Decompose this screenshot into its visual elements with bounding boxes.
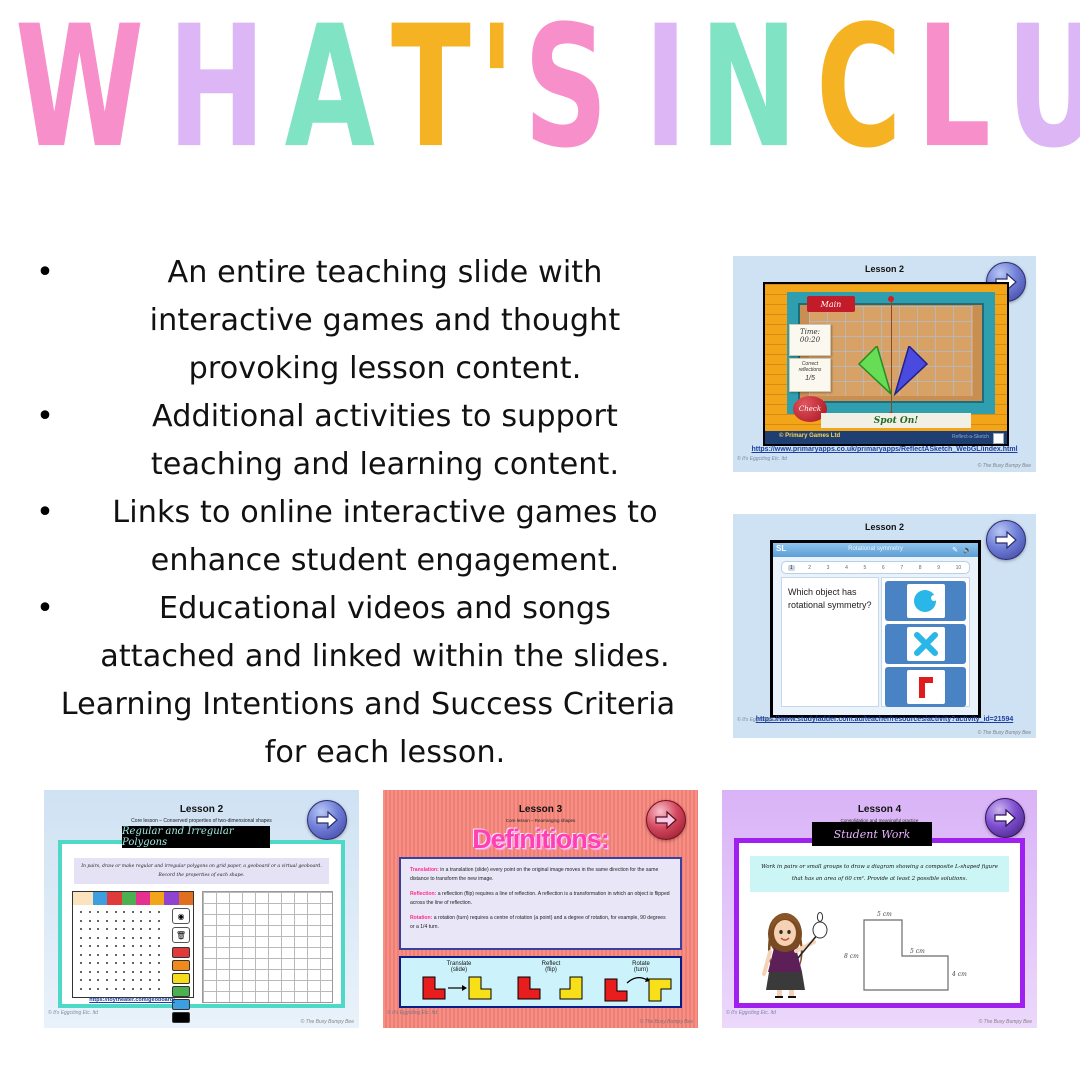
- feature-item: •for each lesson.: [28, 730, 708, 776]
- peg-dot[interactable]: [132, 920, 134, 922]
- title-letter: S: [524, 4, 607, 172]
- question-text: Which object has rotational symmetry?: [782, 578, 878, 620]
- transformation-example: Translate(slide): [419, 961, 499, 1001]
- title-letter: I: [644, 4, 686, 172]
- definition-entry: Rotation: a rotation (turn) requires a c…: [410, 914, 671, 932]
- bullet-dot-icon: •: [28, 346, 62, 392]
- color-swatch-yellow[interactable]: [172, 973, 190, 984]
- peg-dot[interactable]: [123, 954, 125, 956]
- option-flag[interactable]: [885, 667, 966, 707]
- instruction-box: In pairs, draw or make regular and irreg…: [74, 858, 329, 884]
- peg-dot[interactable]: [140, 920, 142, 922]
- peg-dot[interactable]: [149, 928, 151, 930]
- feature-text: interactive games and thought: [65, 298, 705, 343]
- peg-dot[interactable]: [158, 954, 160, 956]
- peg-dot[interactable]: [97, 971, 99, 973]
- peg-dot[interactable]: [106, 920, 108, 922]
- peg-dot[interactable]: [140, 945, 142, 947]
- title-letter: W: [15, 4, 143, 172]
- camera-tool-button[interactable]: ◉: [172, 908, 190, 924]
- peg-dot[interactable]: [158, 928, 160, 930]
- bullet-dot-icon: •: [28, 586, 62, 632]
- title-letter: L: [916, 4, 989, 172]
- peg-dot[interactable]: [115, 911, 117, 913]
- bullet-dot-icon: •: [28, 730, 62, 776]
- instruction-line-2: Record the properties of each shape.: [74, 873, 329, 878]
- peg-dot[interactable]: [149, 979, 151, 981]
- feature-text: enhance student engagement.: [65, 538, 705, 583]
- step-number[interactable]: 3: [825, 565, 832, 571]
- toolbar-btn-1[interactable]: [93, 892, 107, 905]
- thumbnail-reflect-game[interactable]: Lesson 2: [733, 256, 1036, 472]
- peg-dot[interactable]: [115, 954, 117, 956]
- definitions-box: Translation: in a translation (slide) ev…: [399, 857, 682, 950]
- peg-dot[interactable]: [80, 988, 82, 990]
- feature-item: •enhance student engagement.: [28, 538, 708, 584]
- transformation-example: Reflect(flip): [511, 961, 591, 1001]
- peg-dot[interactable]: [140, 988, 142, 990]
- definition-body: a rotation (turn) requires a centre of r…: [410, 915, 666, 930]
- peg-dot[interactable]: [106, 911, 108, 913]
- peg-dot[interactable]: [140, 962, 142, 964]
- title-letter: U: [1007, 4, 1080, 172]
- peg-dot[interactable]: [97, 988, 99, 990]
- definition-entry: Reflection: a reflection (flip) requires…: [410, 890, 671, 908]
- peg-dot[interactable]: [97, 937, 99, 939]
- peg-dot[interactable]: [97, 979, 99, 981]
- peg-dot[interactable]: [158, 962, 160, 964]
- definition-body: in a translation (slide) every point on …: [410, 867, 658, 882]
- title-letter: N: [700, 4, 796, 172]
- features-list: •An entire teaching slide with•interacti…: [28, 250, 708, 778]
- step-number[interactable]: 5: [862, 565, 869, 571]
- peg-dot[interactable]: [106, 945, 108, 947]
- example-figure: [511, 975, 591, 1001]
- peg-dot[interactable]: [123, 920, 125, 922]
- step-number[interactable]: 2: [806, 565, 813, 571]
- credit-left: © It's Eggciting Etc. ltd: [726, 1010, 776, 1016]
- svg-text:8 cm: 8 cm: [844, 953, 859, 960]
- feature-item: •Additional activities to support: [28, 394, 708, 440]
- peg-dot[interactable]: [132, 911, 134, 913]
- toolbar-btn-5[interactable]: [150, 892, 164, 905]
- peg-dot[interactable]: [123, 945, 125, 947]
- peg-dot[interactable]: [97, 920, 99, 922]
- next-arrow-button[interactable]: [986, 520, 1026, 560]
- peg-dot[interactable]: [115, 920, 117, 922]
- feature-text: teaching and learning content.: [65, 442, 705, 487]
- peg-dot[interactable]: [115, 988, 117, 990]
- examples-box: Translate(slide)Reflect(flip)Rotate(turn…: [399, 956, 682, 1008]
- peg-dot[interactable]: [106, 988, 108, 990]
- bullet-dot-icon: •: [28, 250, 62, 296]
- peg-dot[interactable]: [123, 911, 125, 913]
- peg-dot[interactable]: [115, 962, 117, 964]
- peg-dot[interactable]: [115, 971, 117, 973]
- feature-text: Educational videos and songs: [65, 586, 705, 631]
- peg-dot[interactable]: [132, 979, 134, 981]
- volume-icon[interactable]: 🔈: [963, 546, 972, 554]
- example-figure: [419, 975, 499, 1001]
- next-arrow-button[interactable]: [985, 798, 1025, 838]
- peg-dot[interactable]: [80, 945, 82, 947]
- step-number[interactable]: 4: [843, 565, 850, 571]
- peg-dot[interactable]: [123, 979, 125, 981]
- credit-right: © The Busy Bumpy Bee: [301, 1019, 354, 1025]
- peg-dot[interactable]: [158, 945, 160, 947]
- definition-term: Translation:: [410, 867, 440, 873]
- peg-dot[interactable]: [97, 928, 99, 930]
- color-swatch-black[interactable]: [172, 1012, 190, 1023]
- arrow-right-icon: [994, 530, 1018, 550]
- flag-shape-icon: [911, 672, 941, 702]
- feature-item: •attached and linked within the slides.: [28, 634, 708, 680]
- peg-dot[interactable]: [80, 954, 82, 956]
- peg-dot[interactable]: [106, 928, 108, 930]
- feature-text: Learning Intentions and Success Criteria: [31, 682, 704, 727]
- title-letter: ': [479, 4, 513, 172]
- resource-url[interactable]: https://www.primaryapps.co.uk/primaryapp…: [733, 446, 1036, 453]
- peg-dot[interactable]: [158, 979, 160, 981]
- peg-dot[interactable]: [123, 937, 125, 939]
- peg-dot[interactable]: [115, 945, 117, 947]
- transformation-example: Rotate(turn): [601, 961, 681, 1003]
- svg-text:5 cm: 5 cm: [910, 948, 925, 955]
- option-circle[interactable]: [885, 581, 966, 621]
- instruction-line-1: Work in pairs or small groups to draw a …: [750, 856, 1009, 870]
- trash-tool-button[interactable]: 🗑: [172, 927, 190, 943]
- peg-dot[interactable]: [140, 971, 142, 973]
- peg-dot[interactable]: [80, 971, 82, 973]
- fullscreen-icon[interactable]: [993, 433, 1004, 444]
- color-swatch-green[interactable]: [172, 986, 190, 997]
- circle-with-dot-icon: [911, 586, 941, 616]
- peg-dot[interactable]: [132, 954, 134, 956]
- peg-dot[interactable]: [97, 954, 99, 956]
- feature-text: Links to online interactive games to: [65, 490, 705, 535]
- instruction-line-1: In pairs, draw or make regular and irreg…: [74, 864, 329, 869]
- peg-dot[interactable]: [89, 911, 91, 913]
- work-grid: [202, 891, 333, 1003]
- peg-dot[interactable]: [89, 988, 91, 990]
- step-number[interactable]: 8: [917, 565, 924, 571]
- peg-dot[interactable]: [89, 971, 91, 973]
- page-title: WHAT'SINCLUDED: [0, 22, 1080, 172]
- feature-text: attached and linked within the slides.: [65, 634, 705, 679]
- peg-dot[interactable]: [115, 937, 117, 939]
- peg-dot[interactable]: [80, 979, 82, 981]
- svg-text:5 cm: 5 cm: [877, 911, 892, 918]
- peg-dot[interactable]: [97, 962, 99, 964]
- peg-dot[interactable]: [97, 911, 99, 913]
- time-value: 00:20: [790, 336, 830, 344]
- step-number[interactable]: 7: [898, 565, 905, 571]
- peg-dot[interactable]: [132, 937, 134, 939]
- thumbnail-definitions[interactable]: Lesson 3 Core lesson – Rearranging shape…: [383, 790, 698, 1028]
- peg-dot[interactable]: [80, 911, 82, 913]
- peg-dot[interactable]: [123, 988, 125, 990]
- peg-dot[interactable]: [149, 945, 151, 947]
- slide-banner: Student Work: [812, 822, 932, 846]
- credit-right: © The Busy Bumpy Bee: [979, 1019, 1032, 1025]
- step-number[interactable]: 1: [788, 565, 795, 571]
- feature-item: •interactive games and thought: [28, 298, 708, 344]
- peg-dot[interactable]: [149, 954, 151, 956]
- geoboard-url[interactable]: https://toytheater.com/geoboard/: [72, 997, 192, 1003]
- definition-term: Reflection:: [410, 891, 438, 897]
- feature-item: •provoking lesson content.: [28, 346, 708, 392]
- question-pane: Which object has rotational symmetry?: [781, 577, 879, 707]
- peg-dot[interactable]: [115, 928, 117, 930]
- peg-dot[interactable]: [115, 979, 117, 981]
- app-window-title: Rotational symmetry: [773, 546, 978, 552]
- peg-dot[interactable]: [132, 988, 134, 990]
- pointer-hand-icon: [813, 913, 827, 939]
- peg-dot[interactable]: [149, 920, 151, 922]
- peg-dot[interactable]: [106, 962, 108, 964]
- slide-heading: Definitions:: [383, 824, 698, 855]
- peg-dot[interactable]: [89, 954, 91, 956]
- peg-dot[interactable]: [123, 962, 125, 964]
- teacher-avatar: [758, 908, 828, 998]
- peg-dot[interactable]: [89, 945, 91, 947]
- peg-dot[interactable]: [80, 920, 82, 922]
- game-footer-right: Reflect-a-Sketch: [952, 434, 989, 440]
- definition-body: a reflection (flip) requires a line of r…: [410, 891, 670, 906]
- next-arrow-button[interactable]: [307, 800, 347, 840]
- peg-dot[interactable]: [89, 920, 91, 922]
- definition-entry: Translation: in a translation (slide) ev…: [410, 866, 671, 884]
- peg-dot[interactable]: [89, 928, 91, 930]
- peg-dot[interactable]: [158, 911, 160, 913]
- blue-shape: [891, 346, 931, 396]
- example-subtitle: (slide): [419, 967, 499, 973]
- peg-dot[interactable]: [140, 928, 142, 930]
- peg-dot[interactable]: [80, 937, 82, 939]
- peg-dot[interactable]: [123, 971, 125, 973]
- peg-dot[interactable]: [149, 937, 151, 939]
- geoboard-logo: [73, 892, 93, 905]
- peg-dot[interactable]: [106, 979, 108, 981]
- peg-dot[interactable]: [149, 988, 151, 990]
- l-shape-diagram: 5 cm 5 cm 8 cm 4 cm: [844, 906, 1004, 1002]
- peg-dot[interactable]: [132, 928, 134, 930]
- peg-dot[interactable]: [97, 945, 99, 947]
- feature-text: provoking lesson content.: [65, 346, 705, 391]
- toolbar-btn-6[interactable]: [164, 892, 178, 905]
- toolbar-btn-3[interactable]: [122, 892, 136, 905]
- peg-dot[interactable]: [80, 962, 82, 964]
- arrow-right-icon: [315, 810, 339, 830]
- peg-dot[interactable]: [89, 937, 91, 939]
- feature-item: •An entire teaching slide with: [28, 250, 708, 296]
- bullet-dot-icon: •: [28, 634, 62, 680]
- peg-dot[interactable]: [132, 945, 134, 947]
- time-label: Time:: [790, 328, 830, 336]
- step-progress-bar[interactable]: 12345678910: [781, 561, 970, 574]
- peg-dot[interactable]: [123, 928, 125, 930]
- title-letter: H: [168, 4, 264, 172]
- main-button[interactable]: Main: [807, 296, 855, 312]
- feature-item: •Learning Intentions and Success Criteri…: [28, 682, 708, 728]
- svg-text:4 cm: 4 cm: [951, 971, 967, 978]
- title-letter: C: [816, 4, 900, 172]
- thumbnail-rotational-symmetry[interactable]: Lesson 2 SL Rotational symmetry ✎ 🔈 1234…: [733, 514, 1036, 738]
- spot-on-banner: Spot On!: [821, 413, 971, 428]
- feature-item: •Links to online interactive games to: [28, 490, 708, 536]
- peg-dot[interactable]: [106, 971, 108, 973]
- peg-dot[interactable]: [132, 971, 134, 973]
- credit-right: © The Busy Bumpy Bee: [978, 730, 1031, 736]
- correct-reflections-label: Correct reflections: [790, 362, 830, 373]
- peg-dot[interactable]: [89, 962, 91, 964]
- peg-dot[interactable]: [140, 954, 142, 956]
- instruction-line-2: that has an area of 60 cm². Provide at l…: [750, 870, 1009, 882]
- definition-term: Rotation:: [410, 915, 434, 921]
- toolbar-btn-7[interactable]: [179, 892, 193, 905]
- feature-text: Additional activities to support: [65, 394, 705, 439]
- color-swatch-orange[interactable]: [172, 960, 190, 971]
- slide-banner: Regular and Irregular Polygons: [122, 826, 270, 848]
- edit-pencil-icon[interactable]: ✎: [952, 546, 958, 554]
- step-number[interactable]: 6: [880, 565, 887, 571]
- bullet-dot-icon: •: [28, 538, 62, 584]
- title-letter: T: [391, 4, 469, 172]
- credit-left: © It's Eggciting Etc. ltd: [737, 717, 787, 723]
- thumbnail-student-work[interactable]: Lesson 4 Consolidation and meaningful pr…: [722, 790, 1037, 1028]
- toolbar-btn-2[interactable]: [107, 892, 121, 905]
- peg-grid[interactable]: [77, 908, 163, 993]
- credit-left: © It's Eggciting Etc. ltd: [48, 1010, 98, 1016]
- feature-item: •teaching and learning content.: [28, 442, 708, 488]
- peg-dot[interactable]: [149, 971, 151, 973]
- instruction-box: Work in pairs or small groups to draw a …: [750, 856, 1009, 892]
- example-subtitle: (turn): [601, 967, 681, 973]
- title-letter: A: [285, 4, 374, 172]
- feature-item: •Educational videos and songs: [28, 586, 708, 632]
- feature-text: An entire teaching slide with: [65, 250, 705, 295]
- peg-dot[interactable]: [140, 937, 142, 939]
- peg-dot[interactable]: [149, 962, 151, 964]
- example-subtitle: (flip): [511, 967, 591, 973]
- color-swatch-red[interactable]: [172, 947, 190, 958]
- bullet-dot-icon: •: [28, 298, 62, 344]
- example-figure: [601, 975, 681, 1003]
- bullet-dot-icon: •: [28, 442, 62, 488]
- peg-dot[interactable]: [158, 937, 160, 939]
- correct-reflections-value: 1/5: [790, 375, 830, 382]
- peg-dot[interactable]: [158, 971, 160, 973]
- peg-dot[interactable]: [80, 928, 82, 930]
- peg-dot[interactable]: [140, 911, 142, 913]
- step-number[interactable]: 9: [935, 565, 942, 571]
- credit-left: © It's Eggciting Etc. ltd: [737, 456, 787, 462]
- peg-dot[interactable]: [158, 920, 160, 922]
- arrow-right-icon: [993, 808, 1017, 828]
- peg-dot[interactable]: [132, 962, 134, 964]
- credit-left: © It's Eggciting Etc. ltd: [387, 1010, 437, 1016]
- peg-dot[interactable]: [149, 911, 151, 913]
- credit-right: © The Busy Bumpy Bee: [640, 1019, 693, 1025]
- option-cross[interactable]: [885, 624, 966, 664]
- geoboard-app[interactable]: ◉ 🗑: [72, 891, 194, 998]
- credit-right: © The Busy Bumpy Bee: [978, 463, 1031, 469]
- step-number[interactable]: 10: [954, 565, 964, 571]
- peg-dot[interactable]: [106, 954, 108, 956]
- peg-dot[interactable]: [158, 988, 160, 990]
- peg-dot[interactable]: [140, 979, 142, 981]
- peg-dot[interactable]: [89, 979, 91, 981]
- peg-dot[interactable]: [106, 937, 108, 939]
- game-footer-left: © Primary Games Ltd: [779, 433, 840, 439]
- feature-text: for each lesson.: [65, 730, 705, 775]
- toolbar-btn-4[interactable]: [136, 892, 150, 905]
- thumbnail-polygons[interactable]: Lesson 2 Core lesson – Conserved propert…: [44, 790, 359, 1028]
- bullet-dot-icon: •: [28, 490, 62, 536]
- cross-x-icon: [911, 629, 941, 659]
- bullet-dot-icon: •: [28, 394, 62, 440]
